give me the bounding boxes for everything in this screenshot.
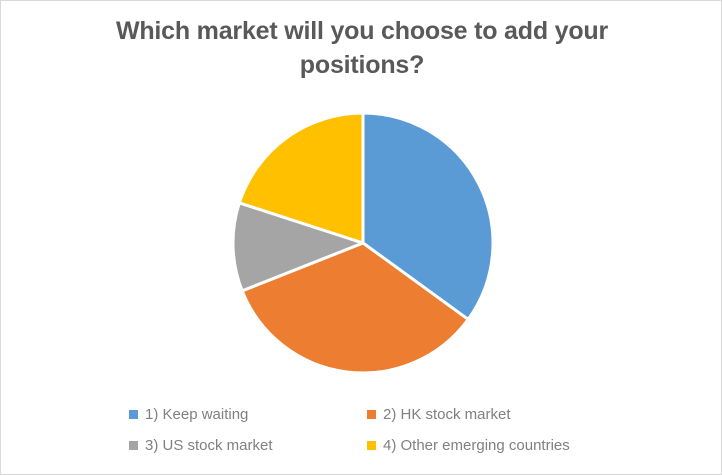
chart-legend: 1) Keep waiting 2) HK stock market 3) US… bbox=[129, 399, 609, 461]
pie-svg bbox=[232, 112, 494, 374]
legend-label-keep-waiting: 1) Keep waiting bbox=[145, 407, 248, 422]
legend-swatch-blue-icon bbox=[129, 410, 138, 419]
legend-swatch-gray-icon bbox=[129, 441, 138, 450]
legend-item-hk-stock-market[interactable]: 2) HK stock market bbox=[367, 407, 609, 422]
pie-slices bbox=[233, 113, 493, 373]
legend-label-other-emerging-countries: 4) Other emerging countries bbox=[383, 438, 570, 453]
legend-item-keep-waiting[interactable]: 1) Keep waiting bbox=[129, 407, 367, 422]
legend-label-us-stock-market: 3) US stock market bbox=[145, 438, 273, 453]
pie-chart-card: Which market will you choose to add your… bbox=[0, 0, 722, 475]
legend-swatch-yellow-icon bbox=[367, 441, 376, 450]
legend-item-us-stock-market[interactable]: 3) US stock market bbox=[129, 438, 367, 453]
legend-swatch-orange-icon bbox=[367, 410, 376, 419]
legend-label-hk-stock-market: 2) HK stock market bbox=[383, 407, 511, 422]
legend-item-other-emerging-countries[interactable]: 4) Other emerging countries bbox=[367, 438, 609, 453]
